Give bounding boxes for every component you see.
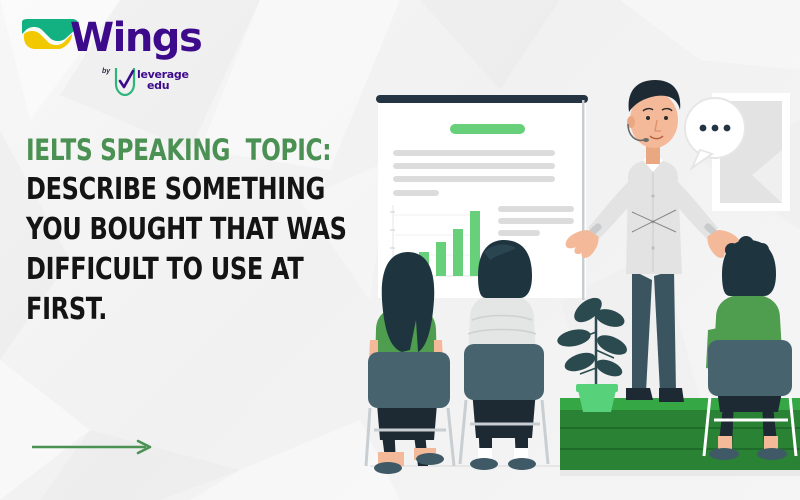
headline-line-1: DESCRIBE SOMETHING bbox=[26, 170, 290, 210]
presenter-eye-right bbox=[664, 116, 668, 120]
leverage-edu-wordmark: leverage edu bbox=[137, 69, 189, 91]
audience-center-chair-back bbox=[464, 344, 544, 400]
bar-3 bbox=[436, 242, 446, 276]
leverage-edu-check-icon bbox=[114, 66, 136, 96]
audience-left-hair bbox=[382, 252, 435, 352]
brand-wordmark: Wings bbox=[70, 18, 201, 58]
headline-line-2: YOU BOUGHT THAT WAS bbox=[26, 210, 290, 250]
audience-center-shoe-2 bbox=[508, 458, 536, 470]
bar-5 bbox=[470, 211, 480, 276]
presenter-shirt bbox=[626, 160, 682, 274]
brand-logo[interactable]: Wings by leverage edu bbox=[18, 12, 183, 92]
presenter-shoe-right bbox=[659, 388, 684, 402]
bubble-dot-3 bbox=[724, 125, 731, 132]
audience-left-shoe-2 bbox=[416, 453, 444, 465]
presenter-eye-left bbox=[646, 116, 650, 120]
headline-line-3: DIFFICULT TO USE AT bbox=[26, 250, 290, 290]
bubble-dot-2 bbox=[712, 125, 719, 132]
headline-kicker: IELTS SPEAKING TOPIC: bbox=[26, 130, 290, 170]
bar-4 bbox=[453, 229, 463, 276]
whiteboard-title-pill bbox=[450, 124, 525, 134]
audience-left-chair-back bbox=[368, 352, 450, 408]
potted-plant bbox=[556, 293, 630, 412]
presentation-illustration bbox=[360, 0, 800, 500]
headline-line-4: FIRST. bbox=[26, 290, 290, 330]
leverage-edu-line2: edu bbox=[147, 80, 189, 91]
presenter-leg-right bbox=[654, 270, 676, 392]
presenter-shoe-left bbox=[626, 388, 653, 400]
bubble-dot-1 bbox=[700, 125, 707, 132]
arrow-right-icon bbox=[30, 438, 160, 456]
audience-center-shoe-1 bbox=[470, 458, 498, 470]
headline-block: IELTS SPEAKING TOPIC: DESCRIBE SOMETHING… bbox=[26, 130, 356, 330]
audience-right-chair-back bbox=[708, 340, 792, 396]
poster-canvas: Wings by leverage edu IELTS SPEAKING TOP… bbox=[0, 0, 800, 500]
brand-by-label: by bbox=[102, 68, 110, 75]
presenter-leg-left bbox=[632, 270, 652, 392]
audience-left-shoe-1 bbox=[374, 462, 402, 474]
audience-right-shoe-1 bbox=[709, 448, 739, 460]
audience-right-shoe-2 bbox=[757, 448, 787, 460]
